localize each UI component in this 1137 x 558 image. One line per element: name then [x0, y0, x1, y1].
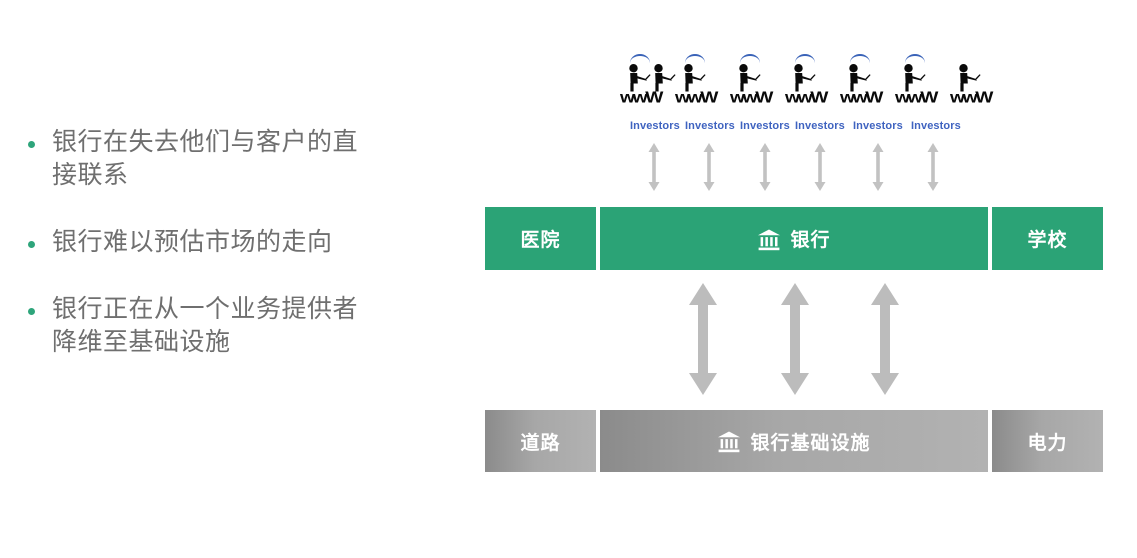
segment-roads[interactable]: 道路 — [485, 410, 596, 472]
investor-figure: wwW — [840, 54, 884, 114]
segment-bank[interactable]: 银行 — [600, 207, 988, 270]
www-text: wwW — [895, 90, 936, 106]
connector-arrow-thin — [757, 143, 773, 191]
www-text: wwW — [730, 90, 771, 106]
segment-power[interactable]: 电力 — [992, 410, 1103, 472]
segment-label: 电力 — [1027, 428, 1067, 455]
investors-label: Investors — [685, 120, 735, 132]
infrastructure-layer-row: 道路 银行基础设施 电力 — [485, 410, 1103, 472]
bullet-list: 银行在失去他们与客户的直 接联系 银行难以预估市场的走向 银行正在从一个业务提供… — [18, 126, 418, 393]
connector-arrow-thick — [868, 283, 902, 395]
investor-arc-icon — [905, 54, 925, 63]
list-item: 银行在失去他们与客户的直 接联系 — [18, 126, 418, 192]
investors-label: Investors — [630, 120, 680, 132]
investor-figure: wwW — [895, 54, 939, 114]
connector-arrow-thin — [646, 143, 662, 191]
services-layer-row: 医院 银行 学校 — [485, 207, 1103, 270]
connector-arrow-thick — [686, 283, 720, 395]
segment-label: 学校 — [1027, 225, 1067, 252]
connector-arrow-thin — [870, 143, 886, 191]
bullet-text: 银行在失去他们与客户的直 接联系 — [52, 126, 358, 192]
investors-label: Investors — [853, 120, 903, 132]
www-text: wwW — [840, 90, 881, 106]
investors-label: Investors — [795, 120, 845, 132]
segment-bank-infrastructure[interactable]: 银行基础设施 — [600, 410, 988, 472]
investor-arc-icon — [740, 54, 760, 63]
segment-school[interactable]: 学校 — [992, 207, 1103, 270]
bank-icon — [757, 229, 781, 251]
investors-label: Investors — [911, 120, 961, 132]
investor-figure: wwW — [730, 54, 774, 114]
www-text: wwW — [950, 90, 991, 106]
segment-label: 银行 — [790, 225, 830, 252]
connector-arrow-thin — [925, 143, 941, 191]
bank-icon — [717, 431, 741, 453]
www-text: wwW — [785, 90, 826, 106]
list-item: 银行难以预估市场的走向 — [18, 226, 418, 259]
investor-figure: wwW — [950, 54, 994, 114]
investor-figure: wwW — [645, 54, 689, 114]
connector-arrow-thick — [778, 283, 812, 395]
bullet-text: 银行难以预估市场的走向 — [52, 226, 333, 259]
segment-label: 银行基础设施 — [750, 428, 870, 455]
list-item: 银行正在从一个业务提供者 降维至基础设施 — [18, 293, 418, 359]
segment-label: 医院 — [520, 225, 560, 252]
connector-arrow-thin — [701, 143, 717, 191]
investors-label: Investors — [740, 120, 790, 132]
bullet-text: 银行正在从一个业务提供者 降维至基础设施 — [52, 293, 358, 359]
bullet-dot-icon — [28, 141, 35, 148]
investor-figure: wwW — [785, 54, 829, 114]
bullet-dot-icon — [28, 241, 35, 248]
connector-arrow-thin — [812, 143, 828, 191]
segment-hospital[interactable]: 医院 — [485, 207, 596, 270]
investor-arc-icon — [795, 54, 815, 63]
segment-label: 道路 — [520, 428, 560, 455]
bullet-dot-icon — [28, 308, 35, 315]
investor-arc-icon — [850, 54, 870, 63]
investor-person-icon — [651, 64, 677, 97]
